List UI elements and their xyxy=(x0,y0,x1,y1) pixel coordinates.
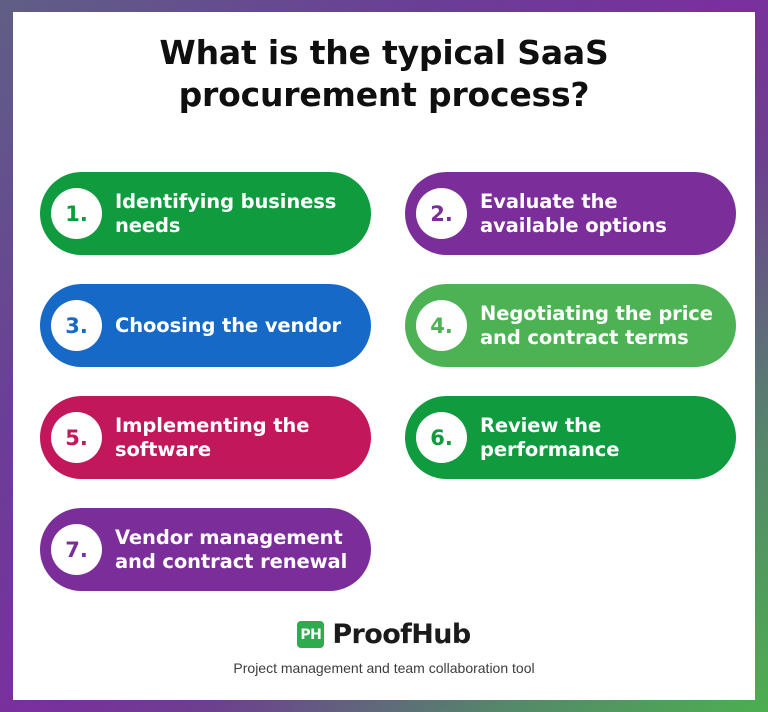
step-label: Vendor management and contract renewal xyxy=(115,526,357,574)
footer: PH ProofHub Project management and team … xyxy=(13,619,755,676)
title-line-1: What is the typical SaaS xyxy=(159,33,608,72)
process-step-4[interactable]: 4.Negotiating the price and contract ter… xyxy=(405,284,736,367)
step-number-badge: 6. xyxy=(416,412,467,463)
tagline: Project management and team collaboratio… xyxy=(13,660,755,676)
step-label: Implementing the software xyxy=(115,414,357,462)
page-title: What is the typical SaaS procurement pro… xyxy=(13,12,755,116)
step-number-badge: 7. xyxy=(51,524,102,575)
step-label: Identifying business needs xyxy=(115,190,357,238)
step-label: Evaluate the available options xyxy=(480,190,722,238)
step-number-badge: 4. xyxy=(416,300,467,351)
step-label: Choosing the vendor xyxy=(115,314,341,338)
process-step-1[interactable]: 1.Identifying business needs xyxy=(40,172,371,255)
title-line-2: procurement process? xyxy=(179,75,590,114)
step-number-badge: 1. xyxy=(51,188,102,239)
process-step-7[interactable]: 7.Vendor management and contract renewal xyxy=(40,508,371,591)
process-step-5[interactable]: 5.Implementing the software xyxy=(40,396,371,479)
proofhub-logo-icon: PH xyxy=(297,621,324,648)
brand-name: ProofHub xyxy=(332,619,470,650)
process-step-3[interactable]: 3.Choosing the vendor xyxy=(40,284,371,367)
step-label: Negotiating the price and contract terms xyxy=(480,302,722,350)
process-step-6[interactable]: 6.Review the performance xyxy=(405,396,736,479)
step-label: Review the performance xyxy=(480,414,722,462)
infographic-card: What is the typical SaaS procurement pro… xyxy=(0,0,768,712)
proofhub-logo[interactable]: PH ProofHub xyxy=(13,619,755,650)
step-number-badge: 5. xyxy=(51,412,102,463)
process-steps-list: 1.Identifying business needs2.Evaluate t… xyxy=(40,172,736,591)
card-inner: What is the typical SaaS procurement pro… xyxy=(13,12,755,700)
step-number-badge: 2. xyxy=(416,188,467,239)
step-number-badge: 3. xyxy=(51,300,102,351)
process-step-2[interactable]: 2.Evaluate the available options xyxy=(405,172,736,255)
